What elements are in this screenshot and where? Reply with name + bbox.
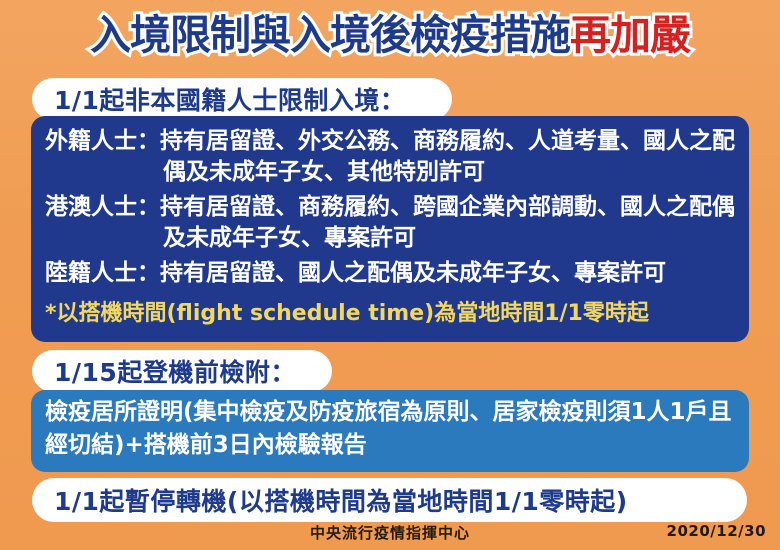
entry-category-mainland-body: 持有居留證、國人之配偶及未成年子女、專案許可 <box>160 260 666 286</box>
poster-root: 入境限制與入境後檢疫措施再加嚴 1/1起非本國籍人士限制入境： 外籍人士：持有居… <box>0 0 780 550</box>
title-accent-text: 再加嚴 <box>570 11 690 59</box>
entry-flight-time-note: *以搭機時間(flight schedule time)為當地時間1/1零時起 <box>45 299 735 329</box>
transit-suspension-text: 1/1起暫停轉機(以搭機時間為當地時間1/1零時起) <box>54 482 628 518</box>
title-main-text: 入境限制與入境後檢疫措施 <box>90 11 570 59</box>
entry-category-foreign-label: 外籍人士： <box>45 128 160 154</box>
entry-category-mainland-label: 陸籍人士： <box>45 260 160 286</box>
footer-organization: 中央流行疫情指揮中心 <box>0 522 780 543</box>
boarding-requirements-text: 檢疫居所證明(集中檢疫及防疫旅宿為原則、居家檢疫則須1人1戶且經切結)+搭機前3… <box>45 396 735 462</box>
footer-date: 2020/12/30 <box>667 522 766 540</box>
entry-section-heading-pill: 1/1起非本國籍人士限制入境： <box>32 78 452 120</box>
transit-suspension-pill: 1/1起暫停轉機(以搭機時間為當地時間1/1零時起) <box>32 478 747 522</box>
poster-title: 入境限制與入境後檢疫措施再加嚴 <box>0 8 780 62</box>
entry-category-hkmacau-label: 港澳人士： <box>45 194 160 220</box>
entry-restrictions-box: 外籍人士：持有居留證、外交公務、商務履約、人道考量、國人之配偶及未成年子女、其他… <box>31 116 749 342</box>
boarding-section-heading-text: 1/15起登機前檢附： <box>54 353 296 389</box>
boarding-requirements-box: 檢疫居所證明(集中檢疫及防疫旅宿為原則、居家檢疫則須1人1戶且經切結)+搭機前3… <box>31 390 749 472</box>
boarding-section-heading-pill: 1/15起登機前檢附： <box>32 350 332 392</box>
entry-category-foreign: 外籍人士：持有居留證、外交公務、商務履約、人道考量、國人之配偶及未成年子女、其他… <box>45 126 735 188</box>
entry-category-mainland: 陸籍人士：持有居留證、國人之配偶及未成年子女、專案許可 <box>45 258 735 289</box>
footer: 中央流行疫情指揮中心 2020/12/30 <box>0 522 780 546</box>
entry-category-foreign-body: 持有居留證、外交公務、商務履約、人道考量、國人之配偶及未成年子女、其他特別許可 <box>160 128 735 185</box>
entry-section-heading-text: 1/1起非本國籍人士限制入境： <box>54 81 405 117</box>
entry-category-hkmacau-body: 持有居留證、商務履約、跨國企業內部調動、國人之配偶及未成年子女、專案許可 <box>160 194 735 251</box>
entry-category-hkmacau: 港澳人士：持有居留證、商務履約、跨國企業內部調動、國人之配偶及未成年子女、專案許… <box>45 192 735 254</box>
